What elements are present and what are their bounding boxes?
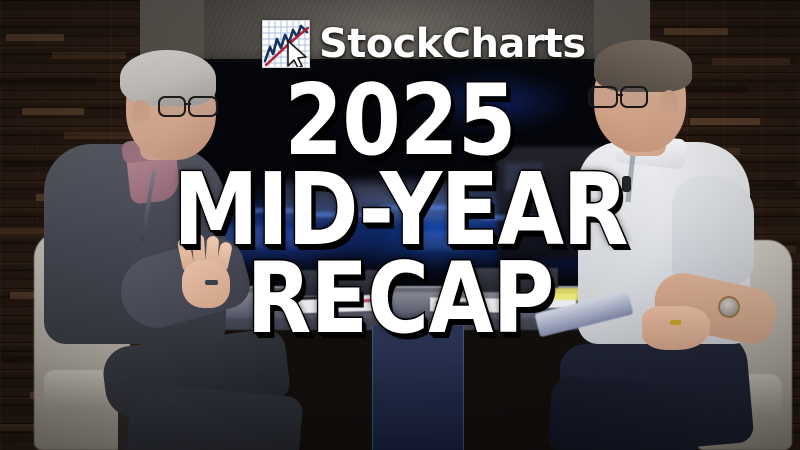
glasses-left [158, 96, 220, 118]
laptop [286, 270, 382, 296]
display-panel [505, 163, 543, 191]
hair-right [594, 40, 692, 92]
leg-right-lower [548, 375, 703, 450]
glasses-bridge-left [185, 103, 191, 105]
display-strip [380, 205, 464, 210]
hand-right [642, 306, 710, 350]
lens-left-b [188, 96, 218, 117]
glasses-bridge-right [617, 94, 623, 96]
person-right [550, 44, 800, 450]
ring-right [670, 320, 681, 325]
lens-right-a [588, 86, 618, 108]
lens-right-b [620, 86, 648, 108]
ring-left [205, 280, 218, 285]
ear-left [132, 100, 150, 124]
glasses-right [588, 86, 652, 109]
thumbnail-canvas: StockCharts 2025 MID-YEAR RECAP [0, 0, 800, 450]
brand-wordmark: StockCharts [319, 24, 586, 64]
hand-left-gesturing [176, 236, 238, 310]
person-left [0, 52, 300, 450]
display-strip [480, 215, 539, 220]
stockcharts-logo[interactable]: StockCharts [262, 20, 586, 68]
sleeve-right [672, 176, 754, 286]
lapel-mic-icon [622, 176, 631, 192]
stock-chart-cursor-icon [262, 20, 310, 68]
display-panel [413, 231, 463, 250]
ear-right [660, 90, 678, 115]
table-base [372, 326, 464, 450]
lens-left-a [158, 96, 186, 117]
display-strip [313, 212, 363, 217]
